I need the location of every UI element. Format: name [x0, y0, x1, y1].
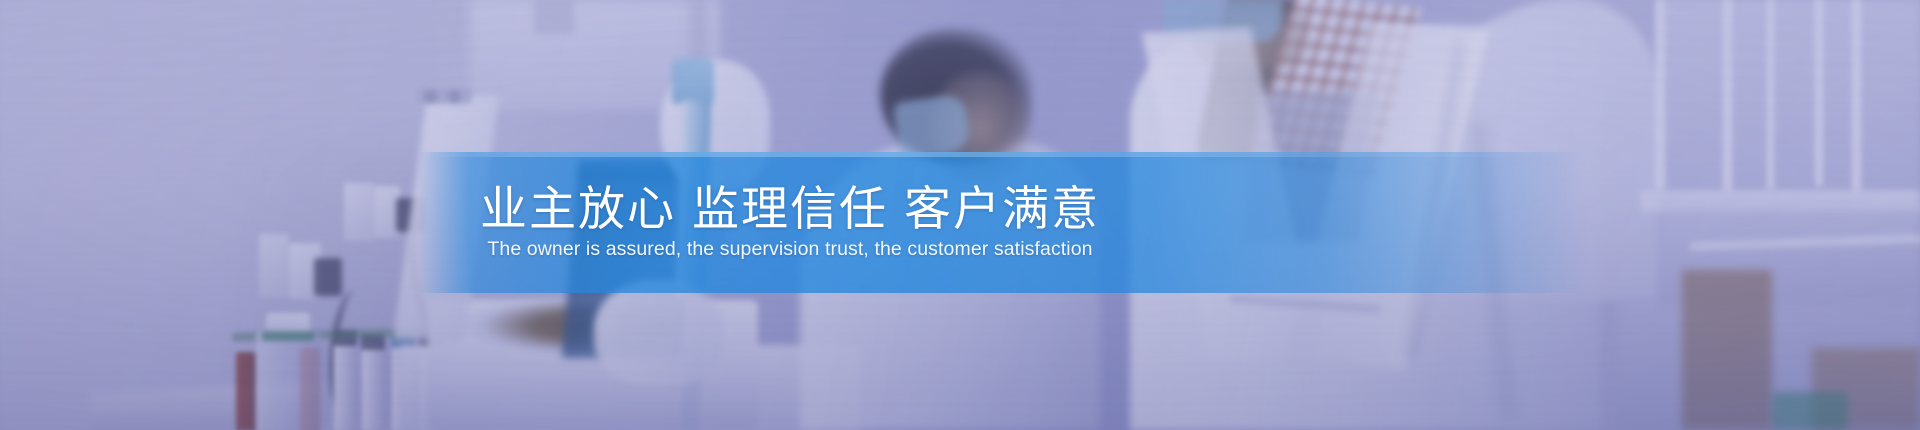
banner-subtitle: The owner is assured, the supervision tr…: [487, 238, 1092, 261]
banner-headline: 业主放心监理信任客户满意: [480, 184, 1100, 234]
headline-part-2: 监理信任: [692, 182, 888, 235]
headline-part-3: 客户满意: [904, 182, 1100, 235]
headline-part-1: 业主放心: [480, 182, 676, 235]
hero-banner: 业主放心监理信任客户满意 The owner is assured, the s…: [0, 0, 1920, 430]
caption-block: 业主放心监理信任客户满意 The owner is assured, the s…: [0, 152, 1580, 293]
